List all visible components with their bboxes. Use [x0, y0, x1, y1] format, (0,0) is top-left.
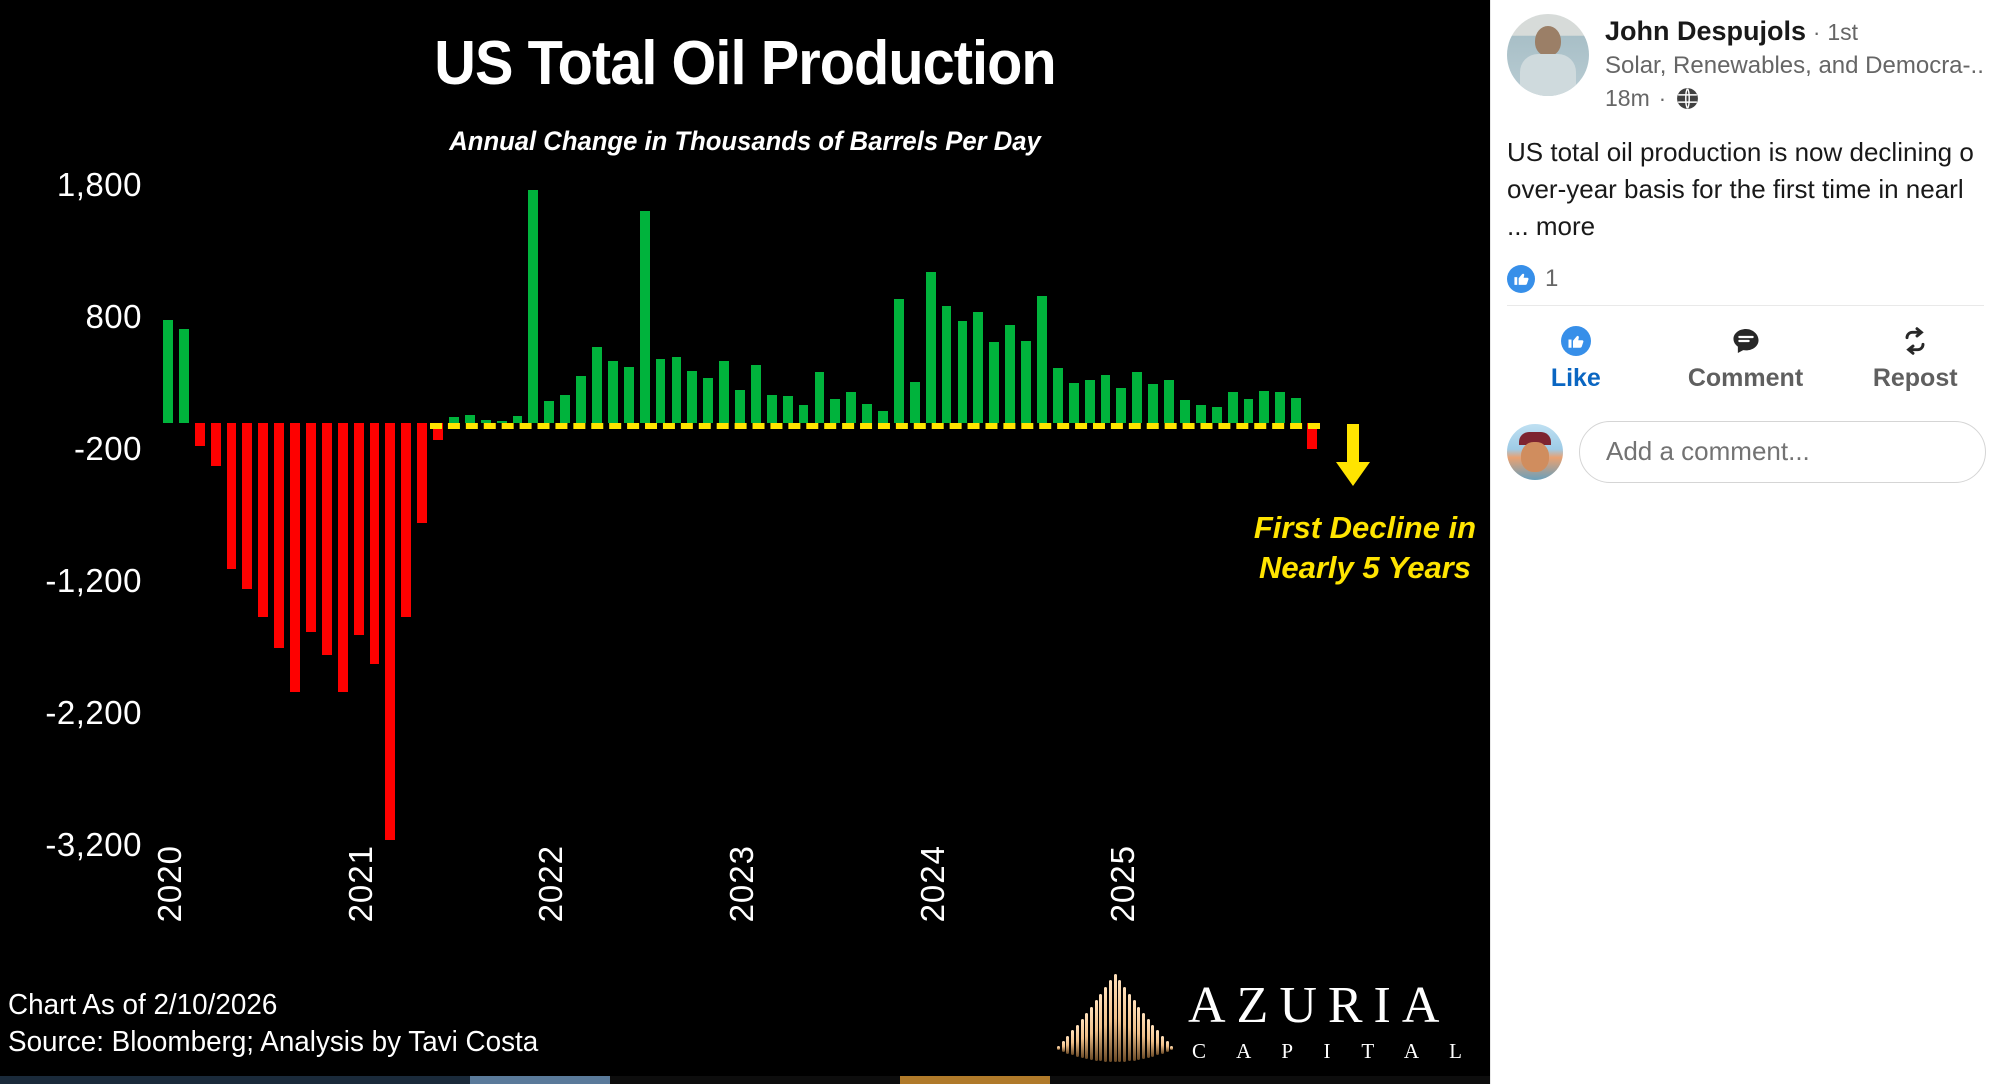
bar: [640, 211, 650, 422]
logo-bar: [1081, 1019, 1084, 1058]
y-axis-tick-label: -200: [74, 430, 142, 468]
author-name-row: John Despujols · 1st: [1605, 16, 1986, 47]
author-name[interactable]: John Despujols: [1605, 16, 1806, 47]
avatar-face-shape: [1521, 442, 1549, 472]
post-text-line-2: over-year basis for the first time in ne…: [1507, 171, 1986, 208]
bar: [767, 395, 777, 423]
bar: [1132, 372, 1142, 422]
bar: [1116, 388, 1126, 422]
repost-icon: [1899, 324, 1931, 358]
bar: [815, 372, 825, 422]
bar: [862, 404, 872, 422]
like-button-label: Like: [1551, 364, 1601, 393]
avatar-head-shape: [1535, 26, 1561, 56]
bar: [163, 320, 173, 423]
logo-bar: [1137, 1007, 1140, 1060]
logo-bar: [1114, 974, 1117, 1062]
bar: [830, 399, 840, 423]
bar: [783, 396, 793, 422]
screen: US Total Oil Production Annual Change in…: [0, 0, 2000, 1084]
chart-image-panel[interactable]: US Total Oil Production Annual Change in…: [0, 0, 1490, 1084]
globe-icon: [1675, 86, 1700, 111]
bar: [942, 306, 952, 422]
bar: [703, 378, 713, 423]
bar: [290, 423, 300, 692]
bar: [513, 416, 523, 423]
logo-bar: [1090, 1007, 1093, 1060]
bar: [1259, 391, 1269, 423]
chart-asof-line: Chart As of 2/10/2026: [8, 987, 538, 1025]
logo-bar: [1161, 1036, 1164, 1054]
post-time-row: 18m ·: [1605, 85, 1986, 112]
callout-annotation: First Decline in Nearly 5 Years: [1250, 508, 1480, 587]
chart-title: US Total Oil Production: [52, 28, 1438, 99]
bar: [227, 423, 237, 570]
bar: [687, 371, 697, 422]
author-avatar[interactable]: [1507, 14, 1589, 96]
bar: [1148, 384, 1158, 422]
bar: [958, 321, 968, 423]
post-timestamp: 18m: [1605, 85, 1650, 112]
logo-bar: [1118, 980, 1121, 1061]
logo-bar: [1142, 1013, 1145, 1059]
thumbs-up-icon: [1561, 324, 1591, 358]
bar: [656, 359, 666, 422]
bar: [894, 299, 904, 423]
y-axis-tick-label: 800: [85, 298, 142, 336]
bar: [528, 190, 538, 422]
bar: [799, 405, 809, 422]
linkedin-post-panel: John Despujols · 1st Solar, Renewables, …: [1490, 0, 2000, 1084]
bar: [179, 329, 189, 423]
logo-brand-subtitle: C A P I T A L: [1188, 1041, 1475, 1062]
logo-bar: [1109, 980, 1112, 1061]
azuria-logo-text: AZURIA C A P I T A L: [1188, 980, 1475, 1062]
bar: [1101, 375, 1111, 423]
bar-series: [160, 185, 1320, 845]
bar: [624, 367, 634, 422]
bar: [1180, 400, 1190, 422]
bar: [1291, 398, 1301, 423]
logo-bar: [1099, 994, 1102, 1061]
x-axis-tick-label: 2021: [342, 845, 380, 922]
bar: [1244, 399, 1254, 423]
bar: [258, 423, 268, 617]
bar: [1085, 380, 1095, 422]
author-headline: Solar, Renewables, and Democra-...: [1605, 52, 1986, 80]
x-axis-tick-label: 2023: [723, 845, 761, 922]
comment-button[interactable]: Comment: [1661, 318, 1831, 399]
bar: [1053, 368, 1063, 422]
bar: [560, 395, 570, 423]
separator-dot: ·: [1813, 20, 1820, 46]
bar: [751, 365, 761, 423]
comment-input-placeholder: Add a comment...: [1606, 436, 1810, 467]
plot-area: [160, 185, 1320, 845]
avatar-body-shape: [1520, 54, 1576, 96]
y-axis-tick-label: -3,200: [45, 826, 142, 864]
logo-bar: [1095, 1000, 1098, 1060]
add-comment-row: Add a comment...: [1491, 405, 2000, 483]
bar: [719, 361, 729, 423]
logo-bar: [1085, 1013, 1088, 1059]
bar: [242, 423, 252, 589]
bar: [608, 361, 618, 423]
bar: [1069, 383, 1079, 423]
azuria-capital-logo: AZURIA C A P I T A L: [1056, 974, 1475, 1062]
logo-bar: [1076, 1025, 1079, 1057]
logo-bar: [1066, 1036, 1069, 1054]
bar: [370, 423, 380, 665]
post-body[interactable]: US total oil production is now declining…: [1491, 112, 2000, 245]
post-actions: Like Comment: [1491, 306, 2000, 405]
comment-button-label: Comment: [1688, 364, 1803, 393]
y-axis-tick-label: 1,800: [57, 166, 142, 204]
x-axis-tick-label: 2025: [1104, 845, 1142, 922]
x-axis-tick-label: 2024: [914, 845, 952, 922]
zero-reference-line: [430, 423, 1320, 429]
bar: [195, 423, 205, 447]
bar: [211, 423, 221, 467]
x-axis-labels: 202020212022202320242025: [160, 845, 1320, 965]
reactions-summary[interactable]: 1: [1491, 245, 2000, 305]
logo-bar: [1156, 1030, 1159, 1055]
bar: [322, 423, 332, 655]
bar: [354, 423, 364, 636]
logo-bar: [1170, 1046, 1173, 1050]
bar: [306, 423, 316, 633]
bar: [910, 382, 920, 423]
logo-bar: [1062, 1041, 1065, 1052]
comment-input[interactable]: Add a comment...: [1579, 421, 1986, 483]
bar: [846, 392, 856, 422]
logo-bar: [1123, 987, 1126, 1061]
repost-button[interactable]: Repost: [1830, 318, 2000, 399]
chart-footer: Chart As of 2/10/2026 Source: Bloomberg;…: [8, 987, 538, 1062]
y-axis-tick-label: -1,200: [45, 562, 142, 600]
bar: [878, 411, 888, 423]
down-arrow-icon: [1330, 424, 1376, 486]
bar: [926, 272, 936, 422]
author-meta: John Despujols · 1st Solar, Renewables, …: [1605, 14, 1986, 112]
logo-brand-name: AZURIA: [1188, 980, 1475, 1032]
post-text-line-1: US total oil production is now declining…: [1507, 134, 1986, 171]
see-more-link[interactable]: ... more: [1507, 208, 1986, 245]
x-axis-tick-label: 2022: [532, 845, 570, 922]
bar: [274, 423, 284, 649]
logo-bar: [1151, 1025, 1154, 1057]
thumbs-up-reaction-icon: [1507, 265, 1535, 293]
bar: [576, 376, 586, 422]
azuria-mountain-icon: [1056, 974, 1174, 1062]
bar: [401, 423, 411, 617]
bar: [1021, 341, 1031, 423]
logo-bar: [1104, 987, 1107, 1061]
current-user-avatar[interactable]: [1507, 424, 1563, 480]
bar: [1164, 380, 1174, 422]
chart-source-line: Source: Bloomberg; Analysis by Tavi Cost…: [8, 1024, 538, 1062]
repost-button-label: Repost: [1873, 364, 1958, 393]
bar: [417, 423, 427, 523]
chart-subtitle: Annual Change in Thousands of Barrels Pe…: [37, 126, 1453, 157]
bar: [465, 415, 475, 423]
bar: [592, 347, 602, 422]
connection-degree: 1st: [1827, 19, 1858, 46]
bar: [385, 423, 395, 840]
bar: [1005, 325, 1015, 423]
separator-dot-2: ·: [1659, 86, 1666, 112]
reaction-count: 1: [1545, 265, 1558, 293]
bar: [1228, 392, 1238, 422]
y-axis-tick-label: -2,200: [45, 694, 142, 732]
logo-bar: [1147, 1019, 1150, 1058]
bar: [973, 312, 983, 423]
logo-bar: [1057, 1046, 1060, 1050]
like-button[interactable]: Like: [1491, 318, 1661, 399]
logo-bar: [1166, 1041, 1169, 1052]
bar: [989, 342, 999, 423]
post-header: John Despujols · 1st Solar, Renewables, …: [1491, 14, 2000, 112]
bar: [1275, 392, 1285, 422]
bar: [544, 401, 554, 422]
y-axis-labels: 1,800800-200-1,200-2,200-3,200: [0, 185, 150, 845]
browser-bottom-strip: [0, 1076, 1490, 1084]
bar: [672, 357, 682, 423]
logo-bar: [1133, 1000, 1136, 1060]
bar: [338, 423, 348, 692]
bar: [1196, 405, 1206, 422]
bar: [1037, 296, 1047, 423]
logo-bar: [1071, 1030, 1074, 1055]
bar: [735, 390, 745, 423]
x-axis-tick-label: 2020: [151, 845, 189, 922]
comment-icon: [1730, 324, 1762, 358]
bar: [1212, 407, 1222, 423]
logo-bar: [1128, 994, 1131, 1061]
